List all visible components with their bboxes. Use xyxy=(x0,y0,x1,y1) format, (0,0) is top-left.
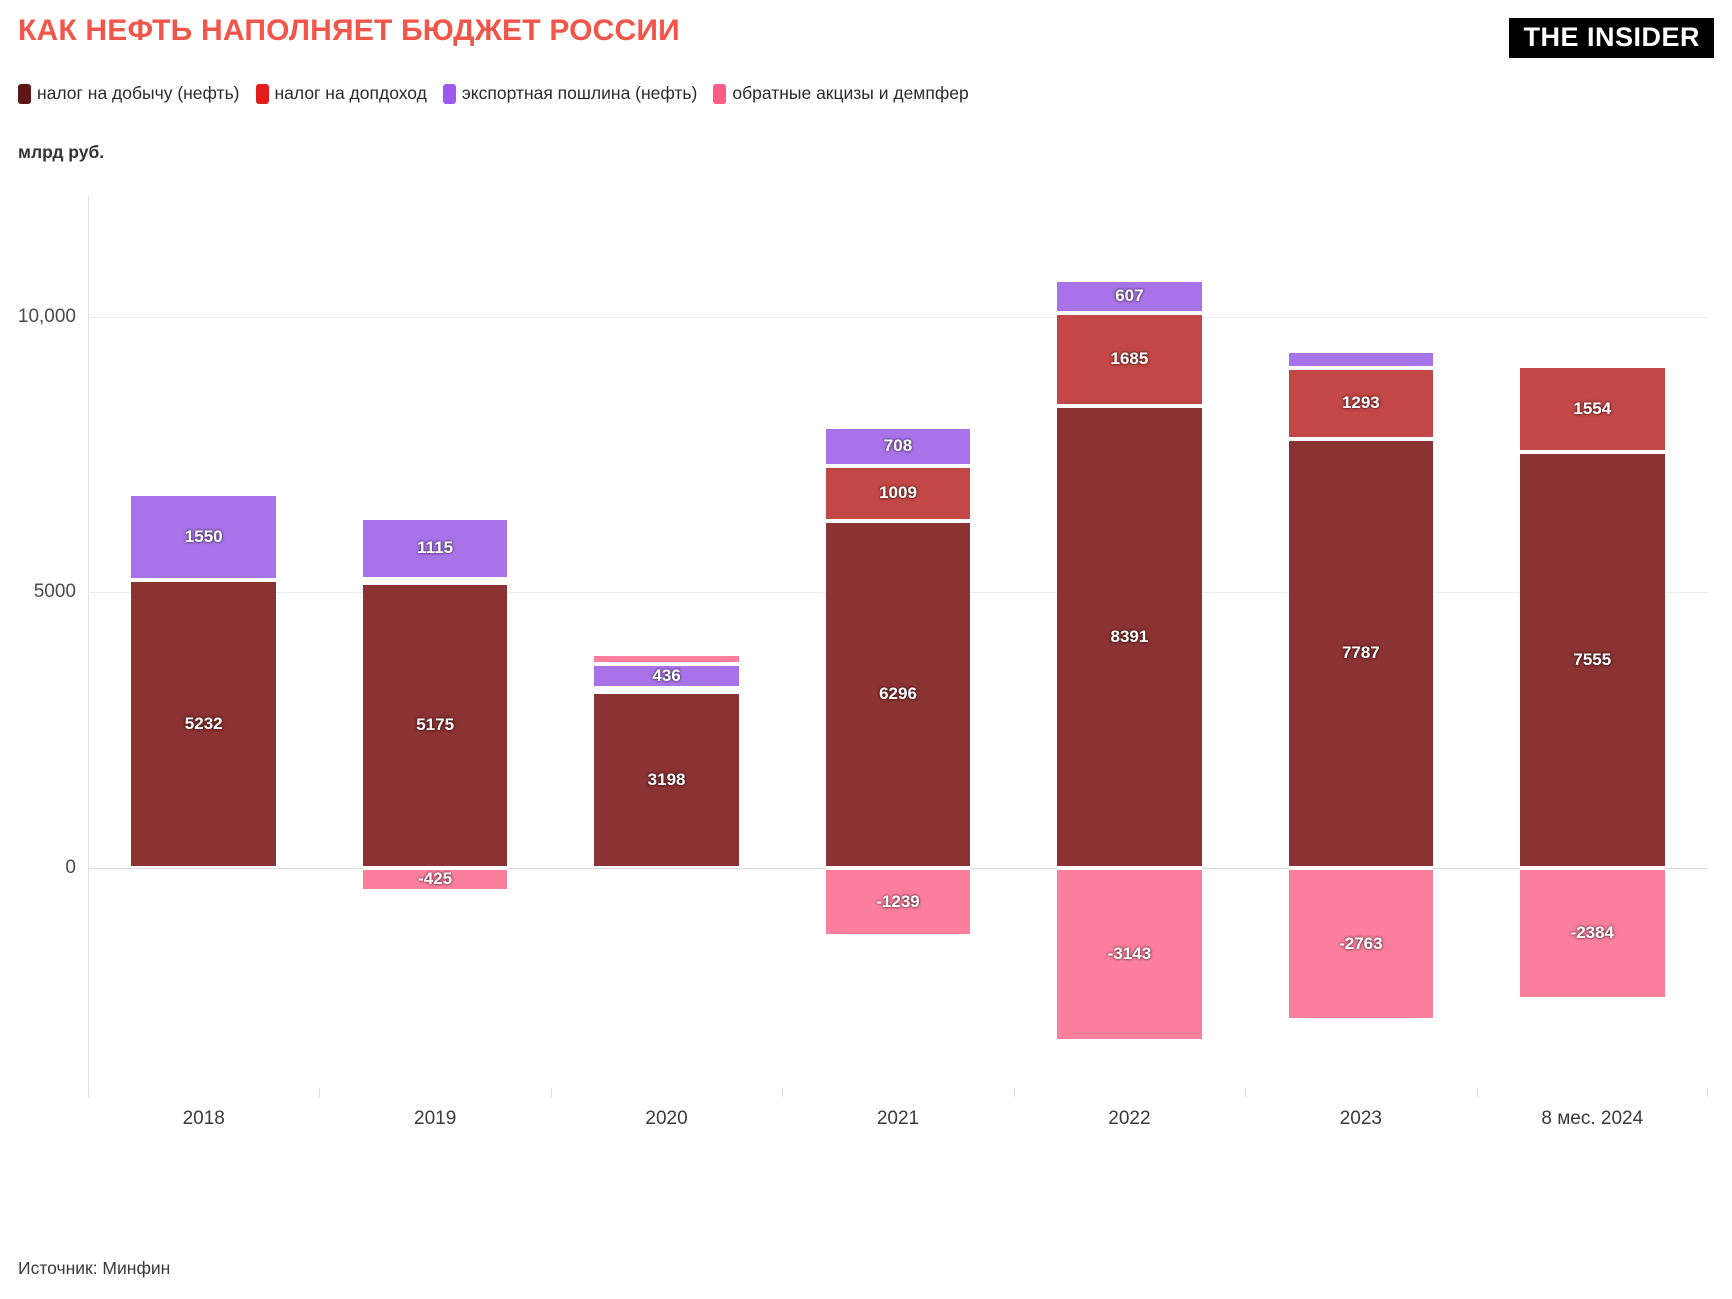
bar-value-label: 5175 xyxy=(416,715,454,735)
legend-item-mineral_extraction_tax[interactable]: налог на добычу (нефть) xyxy=(18,83,240,104)
legend-item-label: налог на добычу (нефть) xyxy=(37,83,240,104)
bar-value-label: 607 xyxy=(1115,286,1143,306)
bar-segment[interactable] xyxy=(363,579,508,583)
source-label: Источник: Минфин xyxy=(18,1258,170,1279)
bar-segment-negative[interactable]: -2763 xyxy=(1289,868,1434,1020)
legend-swatch-icon xyxy=(443,84,456,104)
bar-group[interactable]: 75551554-2384 xyxy=(1520,196,1665,1088)
x-axis-tick-label: 2019 xyxy=(414,1108,456,1130)
bar-value-label: 1554 xyxy=(1573,399,1611,419)
bar-group[interactable]: 52321550 xyxy=(131,196,276,1088)
bar-value-label: -2763 xyxy=(1339,934,1382,954)
bar-segment-negative[interactable]: -3143 xyxy=(1057,868,1202,1041)
x-axis-tick-mark xyxy=(88,1088,89,1097)
legend-item-label: налог на допдоход xyxy=(275,83,427,104)
bar-segment[interactable]: 3198 xyxy=(594,692,739,868)
bar-value-label: 1293 xyxy=(1342,393,1380,413)
bar-group[interactable]: 62961009708-1239 xyxy=(826,196,971,1088)
chart-legend: налог на добычу (нефть)налог на допдоход… xyxy=(18,83,985,104)
bar-segment[interactable]: 1685 xyxy=(1057,313,1202,406)
bar-segment[interactable]: 1554 xyxy=(1520,366,1665,452)
bar-segment[interactable]: 1550 xyxy=(131,494,276,579)
legend-item-label: экспортная пошлина (нефть) xyxy=(462,83,698,104)
bar-value-label: 3198 xyxy=(648,770,686,790)
x-axis-tick-mark xyxy=(319,1088,320,1097)
x-axis-tick-label: 2021 xyxy=(877,1108,919,1130)
bar-segment[interactable]: 8391 xyxy=(1057,406,1202,868)
x-axis-tick-mark xyxy=(782,1088,783,1097)
x-axis-tick-mark xyxy=(1477,1088,1478,1097)
y-axis-line xyxy=(88,196,89,1088)
bar-value-label: 1550 xyxy=(185,527,223,547)
page-title: КАК НЕФТЬ НАПОЛНЯЕТ БЮДЖЕТ РОССИИ xyxy=(18,14,680,48)
bar-value-label: 6296 xyxy=(879,684,917,704)
chart-page: КАК НЕФТЬ НАПОЛНЯЕТ БЮДЖЕТ РОССИИ THE IN… xyxy=(0,0,1732,1299)
bar-segment[interactable]: 5175 xyxy=(363,583,508,868)
bar-value-label: 1009 xyxy=(879,483,917,503)
bar-segment[interactable] xyxy=(1289,351,1434,368)
bar-segment[interactable]: 1009 xyxy=(826,466,971,522)
bar-value-label: 1685 xyxy=(1111,349,1149,369)
bar-group[interactable]: 51751115-425 xyxy=(363,196,508,1088)
bar-segment[interactable]: 1293 xyxy=(1289,368,1434,439)
bar-segment-negative[interactable]: -1239 xyxy=(826,868,971,936)
bar-value-label: 708 xyxy=(884,436,912,456)
bar-value-label: -3143 xyxy=(1108,944,1151,964)
legend-swatch-icon xyxy=(713,84,726,104)
bar-value-label: -425 xyxy=(418,869,452,889)
bar-group[interactable]: 3198436 xyxy=(594,196,739,1088)
bar-group[interactable]: 77871293-2763 xyxy=(1289,196,1434,1088)
bar-group[interactable]: 83911685607-3143 xyxy=(1057,196,1202,1088)
legend-item-reverse_excise_damper[interactable]: обратные акцизы и демпфер xyxy=(713,83,968,104)
x-axis-tick-label: 2022 xyxy=(1108,1108,1150,1130)
legend-item-additional_income_tax[interactable]: налог на допдоход xyxy=(256,83,427,104)
legend-item-export_duty[interactable]: экспортная пошлина (нефть) xyxy=(443,83,698,104)
x-axis-tick-mark xyxy=(1014,1088,1015,1097)
x-axis-tick-label: 2018 xyxy=(183,1108,225,1130)
bar-value-label: 8391 xyxy=(1111,627,1149,647)
bar-value-label: 7555 xyxy=(1573,650,1611,670)
bar-value-label: 5232 xyxy=(185,714,223,734)
bar-segment[interactable]: 607 xyxy=(1057,280,1202,313)
bar-segment[interactable]: 436 xyxy=(594,664,739,688)
bar-segment[interactable] xyxy=(594,654,739,664)
x-axis-tick-label: 8 мес. 2024 xyxy=(1541,1108,1643,1130)
the-insider-logo: THE INSIDER xyxy=(1509,18,1714,58)
bar-value-label: -2384 xyxy=(1571,923,1614,943)
bar-value-label: 436 xyxy=(652,666,680,686)
bar-segment[interactable] xyxy=(594,688,739,692)
bar-segment[interactable]: 7555 xyxy=(1520,452,1665,868)
y-axis-tick-label: 0 xyxy=(0,857,76,879)
x-axis-tick-mark xyxy=(551,1088,552,1097)
legend-swatch-icon xyxy=(18,84,31,104)
bar-value-label: -1239 xyxy=(876,892,919,912)
bar-segment[interactable]: 1115 xyxy=(363,518,508,579)
bar-value-label: 1115 xyxy=(417,538,453,558)
x-axis-tick-mark xyxy=(1245,1088,1246,1097)
bar-segment[interactable]: 5232 xyxy=(131,580,276,868)
bar-segment[interactable]: 708 xyxy=(826,427,971,466)
x-axis-tick-mark xyxy=(1707,1088,1708,1097)
legend-swatch-icon xyxy=(256,84,269,104)
x-axis-tick-label: 2020 xyxy=(645,1108,687,1130)
bar-segment-negative[interactable]: -425 xyxy=(363,868,508,891)
bar-segment[interactable]: 6296 xyxy=(826,521,971,868)
y-axis-units-label: млрд руб. xyxy=(18,142,104,163)
y-axis-tick-label: 10,000 xyxy=(0,306,76,328)
bar-segment-negative[interactable]: -2384 xyxy=(1520,868,1665,999)
x-axis-tick-label: 2023 xyxy=(1340,1108,1382,1130)
bar-value-label: 7787 xyxy=(1342,643,1380,663)
y-axis-tick-label: 5000 xyxy=(0,581,76,603)
legend-item-label: обратные акцизы и демпфер xyxy=(732,83,968,104)
plot-area: 0500010,00052321550201851751115-42520193… xyxy=(88,196,1708,1088)
bar-segment[interactable]: 7787 xyxy=(1289,439,1434,868)
